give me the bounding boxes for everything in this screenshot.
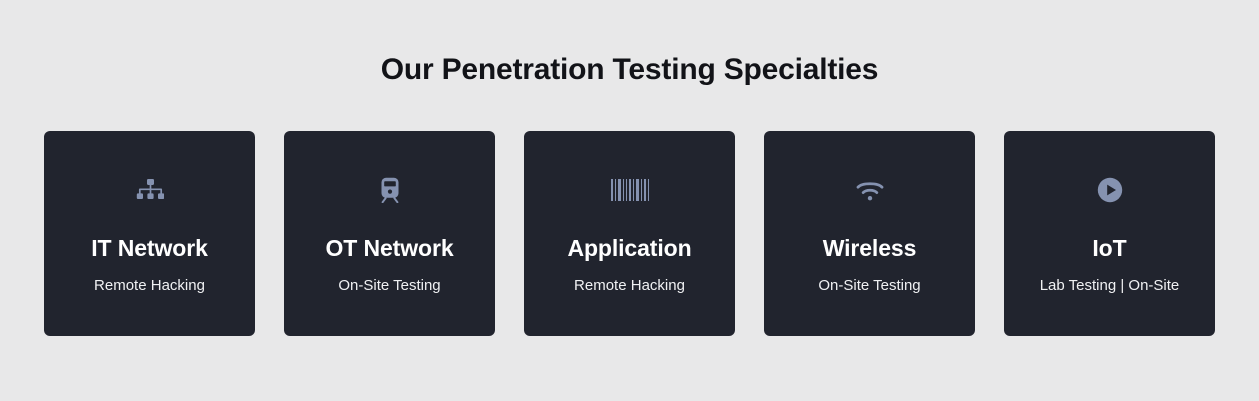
card-title: Application: [567, 235, 691, 263]
specialty-card-wireless[interactable]: Wireless On-Site Testing: [764, 131, 975, 336]
card-title: Wireless: [823, 235, 917, 263]
card-subtitle: On-Site Testing: [338, 276, 440, 296]
barcode-icon: [611, 175, 649, 205]
sitemap-icon: [136, 175, 164, 205]
card-subtitle: Remote Hacking: [574, 276, 685, 296]
page-title: Our Penetration Testing Specialties: [381, 52, 879, 88]
card-subtitle: Remote Hacking: [94, 276, 205, 296]
card-title: IoT: [1092, 235, 1126, 263]
circle-play-icon: [1097, 175, 1123, 205]
specialties-section: Our Penetration Testing Specialties IT N…: [0, 0, 1259, 401]
train-icon: [380, 175, 400, 205]
card-title: OT Network: [325, 235, 453, 263]
specialty-card-application[interactable]: Application Remote Hacking: [524, 131, 735, 336]
card-title: IT Network: [91, 235, 208, 263]
specialty-card-it-network[interactable]: IT Network Remote Hacking: [44, 131, 255, 336]
specialty-card-iot[interactable]: IoT Lab Testing | On-Site: [1004, 131, 1215, 336]
specialty-card-ot-network[interactable]: OT Network On-Site Testing: [284, 131, 495, 336]
card-subtitle: Lab Testing | On-Site: [1040, 276, 1180, 296]
card-subtitle: On-Site Testing: [818, 276, 920, 296]
specialty-cards-row: IT Network Remote Hacking OT Network On-…: [44, 131, 1215, 336]
wifi-icon: [856, 175, 884, 205]
